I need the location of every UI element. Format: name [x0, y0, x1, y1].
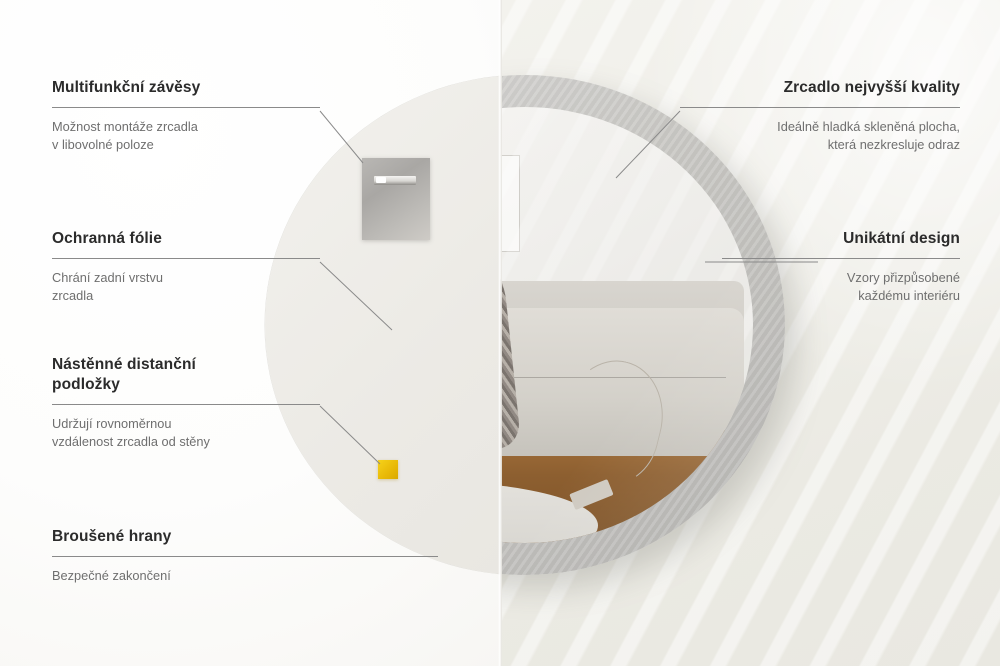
callout-description: Možnost montáže zrcadla v libovolné polo…	[52, 118, 320, 155]
callout-description: Udržují rovnoměrnou vzdálenost zrcadla o…	[52, 415, 320, 452]
callout-title: Multifunkční závěsy	[52, 78, 320, 98]
callout-title: Unikátní design	[722, 229, 960, 249]
callout-rule	[52, 556, 438, 557]
callout-nastenne-distancni-podlozky: Nástěnné distanční podložky Udržují rovn…	[52, 355, 320, 452]
callout-brousene-hrany: Broušené hrany Bezpečné zakončení	[52, 527, 438, 585]
callout-ochranna-folie: Ochranná fólie Chrání zadní vrstvu zrcad…	[52, 229, 320, 306]
callout-description: Ideálně hladká skleněná plocha, která ne…	[680, 118, 960, 155]
hanger-slot	[374, 176, 416, 185]
callout-rule	[52, 258, 320, 259]
callout-rule	[52, 404, 320, 405]
spacer-pad	[378, 460, 398, 479]
callout-title: Broušené hrany	[52, 527, 438, 547]
callout-rule	[722, 258, 960, 259]
infographic-stage: Multifunkční závěsy Možnost montáže zrca…	[0, 0, 1000, 666]
callout-description: Vzory přizpůsobené každému interiéru	[722, 269, 960, 306]
callout-multifunkcni-zavesy: Multifunkční závěsy Možnost montáže zrca…	[52, 78, 320, 155]
reflected-poster-icon	[500, 155, 520, 252]
callout-title: Ochranná fólie	[52, 229, 320, 249]
mirror-glass	[500, 107, 753, 543]
callout-unikatni-design: Unikátní design Vzory přizpůsobené každé…	[722, 229, 960, 306]
callout-title: Nástěnné distanční podložky	[52, 355, 320, 395]
callout-zrcadlo-nejvyssi-kvality: Zrcadlo nejvyšší kvality Ideálně hladká …	[680, 78, 960, 155]
callout-description: Chrání zadní vrstvu zrcadla	[52, 269, 320, 306]
callout-description: Bezpečné zakončení	[52, 567, 438, 586]
hanger-plate	[362, 158, 430, 240]
callout-rule	[52, 107, 320, 108]
callout-rule	[680, 107, 960, 108]
panel-seam	[498, 0, 502, 666]
callout-title: Zrcadlo nejvyšší kvality	[680, 78, 960, 98]
